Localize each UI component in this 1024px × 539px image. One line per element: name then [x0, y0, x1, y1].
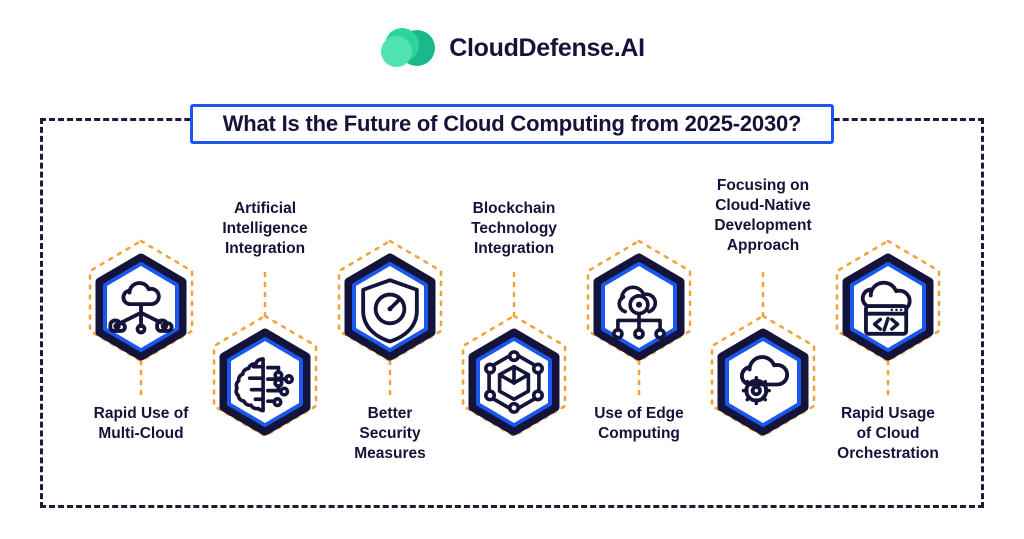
cloud-gear-icon [717, 330, 809, 434]
shield-gauge-icon [344, 255, 436, 359]
brand-name: CloudDefense.AI [449, 34, 645, 63]
hex-node-orchestration[interactable] [842, 255, 934, 359]
hex-node-edge-computing[interactable] [593, 255, 685, 359]
title-banner: What Is the Future of Cloud Computing fr… [190, 104, 834, 144]
infographic-page: CloudDefense.AI What Is the Future of Cl… [0, 0, 1024, 539]
cloud-network-icon [95, 255, 187, 359]
hex-node-multi-cloud[interactable] [95, 255, 187, 359]
cloud-code-icon [842, 255, 934, 359]
cloud-gear-network-icon [593, 255, 685, 359]
node-label-cloud-native: Focusing on Cloud-Native Development App… [678, 176, 848, 257]
hex-node-ai-integration[interactable] [219, 330, 311, 434]
node-label-blockchain: Blockchain Technology Integration [429, 199, 599, 259]
page-title: What Is the Future of Cloud Computing fr… [223, 111, 802, 137]
overlapping-circles-logo-icon [379, 28, 435, 68]
blockchain-cube-icon [468, 330, 560, 434]
hex-node-blockchain[interactable] [468, 330, 560, 434]
hex-node-cloud-native[interactable] [717, 330, 809, 434]
ai-brain-circuit-icon [219, 330, 311, 434]
brand-logo: CloudDefense.AI [0, 28, 1024, 68]
node-label-multi-cloud: Rapid Use of Multi-Cloud [51, 404, 231, 444]
node-label-edge-computing: Use of Edge Computing [554, 404, 724, 444]
node-label-ai-integration: Artificial Intelligence Integration [180, 199, 350, 259]
node-label-security: Better Security Measures [305, 404, 475, 464]
hex-node-security[interactable] [344, 255, 436, 359]
node-label-orchestration: Rapid Usage of Cloud Orchestration [800, 404, 976, 464]
